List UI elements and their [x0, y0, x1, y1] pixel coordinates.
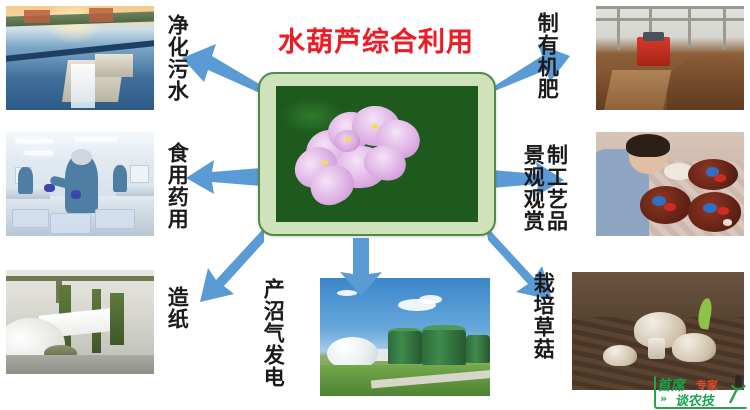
photo-water-hyacinth-flower: [276, 86, 478, 222]
photo-wastewater-treatment: [6, 6, 154, 110]
photo-handicraft-workshop: [596, 132, 744, 236]
microphone-icon: [720, 374, 746, 404]
channel-logo-watermark: 首席 专家 » 谈农技: [650, 372, 748, 408]
arrow-to-papermaking: [178, 226, 264, 304]
photo-pharmaceutical-cleanroom: [6, 132, 154, 236]
label-handicrafts: 制工艺品: [545, 144, 567, 232]
arrow-to-food-medicine: [186, 160, 262, 196]
label-straw-mushroom: 栽培草菇: [532, 272, 554, 360]
label-organic-fertilizer: 制有机肥: [536, 12, 558, 100]
label-landscape-view: 景观观赏: [522, 144, 544, 232]
page-title: 水葫芦综合利用: [236, 20, 516, 59]
label-group-middle-right: 制工艺品 景观观赏: [522, 144, 568, 232]
label-food-medicine: 食用药用: [166, 142, 188, 230]
center-node-water-hyacinth[interactable]: [258, 72, 496, 236]
label-purify-sewage: 净化污水: [166, 14, 188, 102]
logo-text-tagline: 谈农技: [675, 390, 717, 409]
photo-compost-facility: [596, 6, 744, 110]
label-papermaking: 造纸: [166, 286, 188, 330]
label-biogas-power: 产沼气发电: [262, 278, 284, 388]
logo-chevron-icon: »: [660, 392, 667, 405]
arrow-to-biogas-power: [338, 238, 384, 296]
infographic-canvas: 水葫芦综合利用 净化污水 食用药用 造纸 产沼气发电 制有机肥 制工艺品 景观观…: [0, 0, 750, 410]
photo-paper-mill: [6, 270, 154, 374]
